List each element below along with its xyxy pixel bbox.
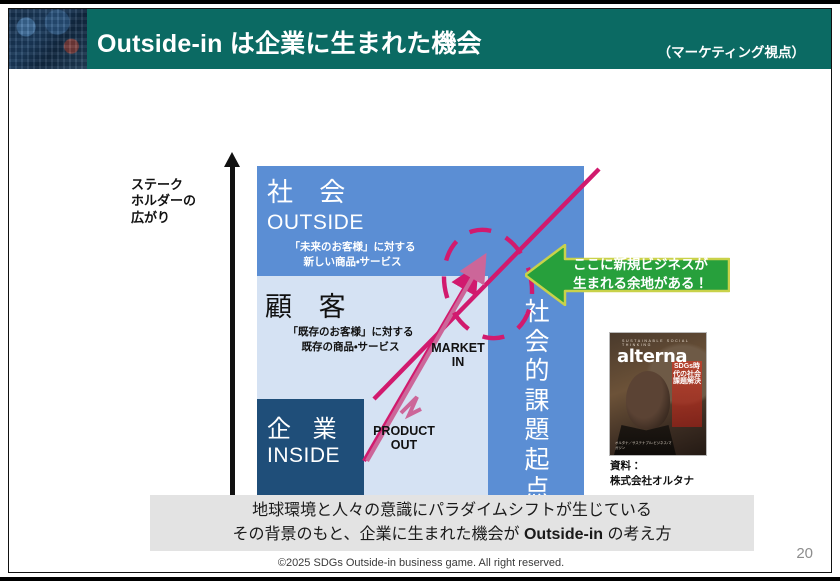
summary-line-2: その背景のもと、企業に生まれた機会が Outside-in の考え方 (232, 523, 671, 547)
customer-label-jp: 顧 客 (265, 285, 355, 324)
customer-sublabel-line2: 既存の商品・サービス (263, 340, 438, 355)
customer-sublabel: 「既存のお客様」に対する 既存の商品・サービス (263, 325, 438, 355)
magazine-portrait (626, 371, 670, 429)
society-sublabel-line2: 新しい商品・サービス (265, 255, 440, 270)
summary-line-1: 地球環境と人々の意識にパラダイムシフトが生じている (252, 499, 652, 523)
opportunity-callout-line1: ここに新規ビジネスが (573, 256, 723, 275)
society-sublabel-line1: 「未来のお客様」に対する (265, 240, 440, 255)
society-sublabel: 「未来のお客様」に対する 新しい商品・サービス (265, 240, 440, 270)
page-title: Outside-in は企業に生まれた機会 (97, 24, 482, 60)
magazine-source-line1: 資料： (610, 459, 730, 474)
society-label-en: OUTSIDE (267, 211, 364, 235)
magazine-cover-image: SDGs時代の社会課題解決 SUSTAINABLE SOCIAL THINKIN… (609, 332, 707, 456)
product-out-label-line2: OUT (367, 438, 441, 452)
magazine-source-line2: 株式会社オルタナ (610, 474, 730, 489)
social-issue-origin-label: 社会的課題起点 (517, 297, 557, 504)
y-axis-label: ステーク ホルダーの 広がり (131, 177, 227, 226)
product-out-label-line1: PRODUCT (367, 424, 441, 438)
opportunity-callout: ここに新規ビジネスが 生まれる余地がある！ (525, 244, 730, 306)
summary-line-2-strong: Outside-in (524, 526, 603, 543)
slide-root: Outside-in は企業に生まれた機会 （マーケティング視点） ステーク ホ… (0, 0, 840, 581)
copyright-footer: ©2025 SDGs Outside-in business game. All… (9, 557, 832, 569)
market-in-label-line1: MARKET (426, 341, 490, 355)
magazine-footer-text: オルタナ／サステナブル・ビジネス・マガジン (615, 441, 673, 451)
opportunity-callout-text: ここに新規ビジネスが 生まれる余地がある！ (573, 256, 723, 293)
opportunity-callout-line2: 生まれる余地がある！ (573, 275, 723, 294)
market-in-label-line2: IN (426, 355, 490, 369)
customer-sublabel-line1: 「既存のお客様」に対する (263, 325, 438, 340)
summary-box: 地球環境と人々の意識にパラダイムシフトが生じている その背景のもと、企業に生まれ… (150, 495, 754, 551)
market-in-label: MARKET IN (426, 341, 490, 370)
slide-canvas: Outside-in は企業に生まれた機会 （マーケティング視点） ステーク ホ… (8, 8, 832, 573)
concept-diagram: ステーク ホルダーの 広がり 製品・サービスの広がり 社 会 OUTSIDE 「… (9, 69, 832, 489)
y-axis-label-line2: ホルダーの (131, 193, 227, 209)
y-axis-label-line1: ステーク (131, 177, 227, 193)
society-label-jp: 社 会 (267, 172, 354, 209)
magazine-title: alterna (617, 346, 687, 367)
summary-line-2-after: の考え方 (603, 526, 671, 543)
inside-label-jp: 企 業 (267, 409, 344, 444)
product-out-label: PRODUCT OUT (367, 424, 441, 453)
y-axis-label-line3: 広がり (131, 210, 227, 226)
inside-label-en: INSIDE (267, 444, 340, 468)
city-night-photo-thumbnail-icon (9, 9, 87, 69)
magazine-source-caption: 資料： 株式会社オルタナ (610, 459, 730, 489)
y-axis-arrow (230, 165, 235, 510)
slide-header-band: Outside-in は企業に生まれた機会 （マーケティング視点） (9, 9, 832, 69)
header-subnote: （マーケティング視点） (658, 41, 805, 61)
page-number: 20 (796, 545, 813, 562)
summary-line-2-before: その背景のもと、企業に生まれた機会が (232, 526, 524, 543)
